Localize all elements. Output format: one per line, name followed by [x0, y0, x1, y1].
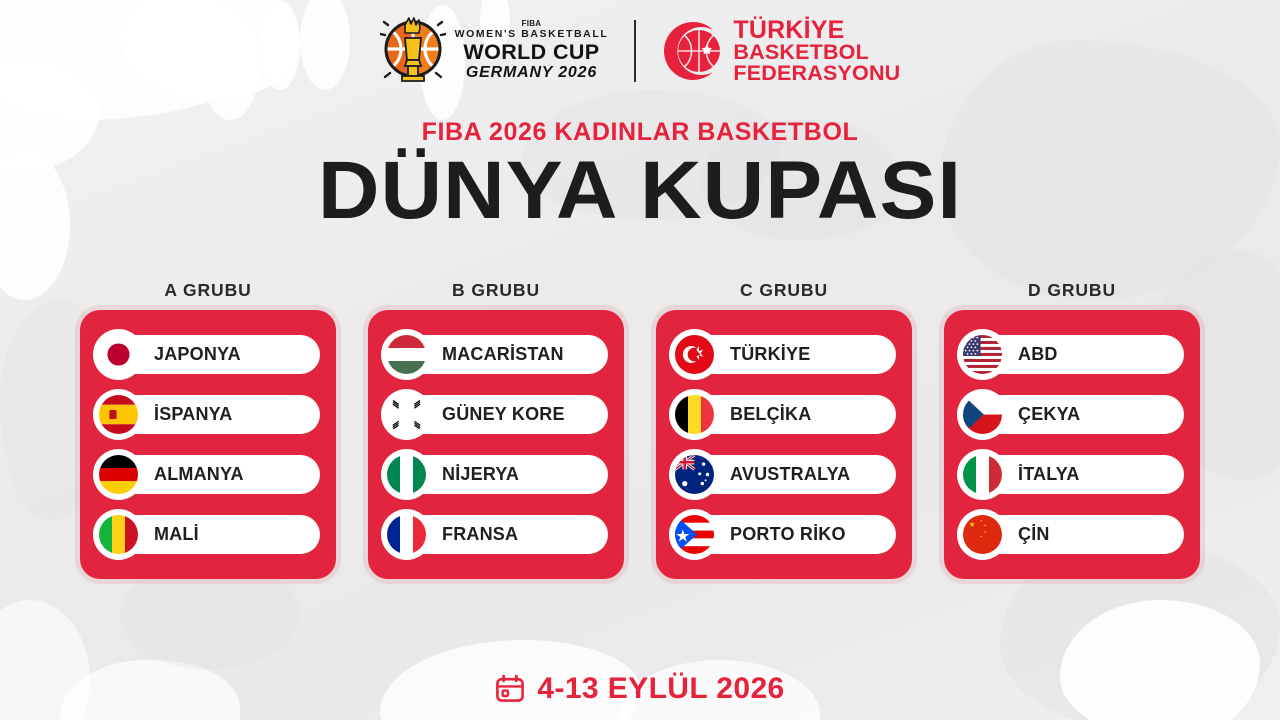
- federation-logo: TÜRKİYE BASKETBOL FEDERASYONU: [662, 18, 900, 83]
- list-item[interactable]: İTALYA: [960, 452, 1184, 497]
- team-name: MACARİSTAN: [442, 344, 564, 365]
- group-b-title: B GRUBU: [368, 280, 624, 301]
- group-d-title: D GRUBU: [944, 280, 1200, 301]
- group-b: B GRUBU MACARİSTAN: [368, 280, 624, 579]
- federation-line3: FEDERASYONU: [733, 63, 900, 84]
- list-item[interactable]: PORTO RİKO: [672, 512, 896, 557]
- header-logos: FIBA WOMEN'S BASKETBALL WORLD CUP GERMAN…: [0, 8, 1280, 94]
- list-item[interactable]: ÇEKYA: [960, 392, 1184, 437]
- group-b-card: MACARİSTAN: [368, 310, 624, 579]
- team-name: ABD: [1018, 344, 1058, 365]
- team-pill: [980, 395, 1184, 434]
- world-cup-line2: WORLD CUP: [463, 42, 599, 64]
- list-item[interactable]: ÇİN: [960, 512, 1184, 557]
- group-c-card: TÜRKİYE BELÇİKA: [656, 310, 912, 579]
- flag-china-icon: [960, 512, 1005, 557]
- list-item[interactable]: ALMANYA: [96, 452, 320, 497]
- list-item[interactable]: MACARİSTAN: [384, 332, 608, 377]
- team-name: MALİ: [154, 524, 199, 545]
- team-name: PORTO RİKO: [730, 524, 846, 545]
- flag-japan-icon: [96, 332, 141, 377]
- turkish-basketball-federation-icon: [662, 20, 724, 82]
- team-name: NİJERYA: [442, 464, 519, 485]
- team-name: ÇEKYA: [1018, 404, 1080, 425]
- flag-germany-icon: [96, 452, 141, 497]
- list-item[interactable]: FRANSA: [384, 512, 608, 557]
- flag-puerto-rico-icon: [672, 512, 717, 557]
- list-item[interactable]: İSPANYA: [96, 392, 320, 437]
- team-pill: [980, 515, 1184, 554]
- team-name: JAPONYA: [154, 344, 241, 365]
- list-item[interactable]: AVUSTRALYA: [672, 452, 896, 497]
- world-cup-line3: GERMANY 2026: [466, 65, 597, 81]
- team-pill: [116, 515, 320, 554]
- flag-turkiye-icon: [672, 332, 717, 377]
- event-date: 4-13 EYLÜL 2026: [537, 672, 784, 706]
- group-c: C GRUBU TÜRKİYE BELÇİKA: [656, 280, 912, 579]
- world-cup-line1: WOMEN'S BASKETBALL: [455, 29, 609, 40]
- title-block: FIBA 2026 KADINLAR BASKETBOL DÜNYA KUPAS…: [0, 118, 1280, 233]
- flag-mali-icon: [96, 512, 141, 557]
- trophy-basketball-icon: [380, 15, 446, 87]
- flag-usa-icon: [960, 332, 1005, 377]
- page-title: DÜNYA KUPASI: [0, 149, 1280, 233]
- list-item[interactable]: MALİ: [96, 512, 320, 557]
- flag-hungary-icon: [384, 332, 429, 377]
- flag-belgium-icon: [672, 392, 717, 437]
- vertical-divider: [634, 20, 636, 82]
- group-a: A GRUBU JAPONYA İSPANYA: [80, 280, 336, 579]
- team-name: BELÇİKA: [730, 404, 811, 425]
- team-name: İTALYA: [1018, 464, 1080, 485]
- world-cup-wordmark: FIBA WOMEN'S BASKETBALL WORLD CUP GERMAN…: [455, 21, 609, 81]
- list-item[interactable]: GÜNEY KORE: [384, 392, 608, 437]
- flag-france-icon: [384, 512, 429, 557]
- federation-line2: BASKETBOL: [733, 42, 900, 63]
- group-d-card: ABD ÇEKYA İTALYA: [944, 310, 1200, 579]
- world-cup-logo: FIBA WOMEN'S BASKETBALL WORLD CUP GERMAN…: [380, 15, 609, 87]
- list-item[interactable]: NİJERYA: [384, 452, 608, 497]
- federation-line1: TÜRKİYE: [733, 18, 900, 42]
- flag-south-korea-icon: [384, 392, 429, 437]
- flag-czechia-icon: [960, 392, 1005, 437]
- flag-spain-icon: [96, 392, 141, 437]
- list-item[interactable]: ABD: [960, 332, 1184, 377]
- federation-wordmark: TÜRKİYE BASKETBOL FEDERASYONU: [733, 18, 900, 83]
- team-name: ALMANYA: [154, 464, 244, 485]
- team-name: ÇİN: [1018, 524, 1050, 545]
- group-d: D GRUBU: [944, 280, 1200, 579]
- group-c-title: C GRUBU: [656, 280, 912, 301]
- team-name: İSPANYA: [154, 404, 232, 425]
- team-pill: [980, 455, 1184, 494]
- list-item[interactable]: TÜRKİYE: [672, 332, 896, 377]
- team-pill: [980, 335, 1184, 374]
- flag-australia-icon: [672, 452, 717, 497]
- fiba-mark: FIBA: [522, 20, 542, 28]
- team-name: FRANSA: [442, 524, 518, 545]
- flag-nigeria-icon: [384, 452, 429, 497]
- list-item[interactable]: JAPONYA: [96, 332, 320, 377]
- team-name: AVUSTRALYA: [730, 464, 850, 485]
- groups-container: A GRUBU JAPONYA İSPANYA: [0, 280, 1280, 579]
- event-date-footer: 4-13 EYLÜL 2026: [0, 672, 1280, 706]
- calendar-icon: [495, 674, 525, 704]
- flag-italy-icon: [960, 452, 1005, 497]
- team-name: TÜRKİYE: [730, 344, 810, 365]
- group-a-title: A GRUBU: [80, 280, 336, 301]
- event-subtitle: FIBA 2026 KADINLAR BASKETBOL: [0, 118, 1280, 147]
- list-item[interactable]: BELÇİKA: [672, 392, 896, 437]
- group-a-card: JAPONYA İSPANYA ALMANYA: [80, 310, 336, 579]
- team-name: GÜNEY KORE: [442, 404, 565, 425]
